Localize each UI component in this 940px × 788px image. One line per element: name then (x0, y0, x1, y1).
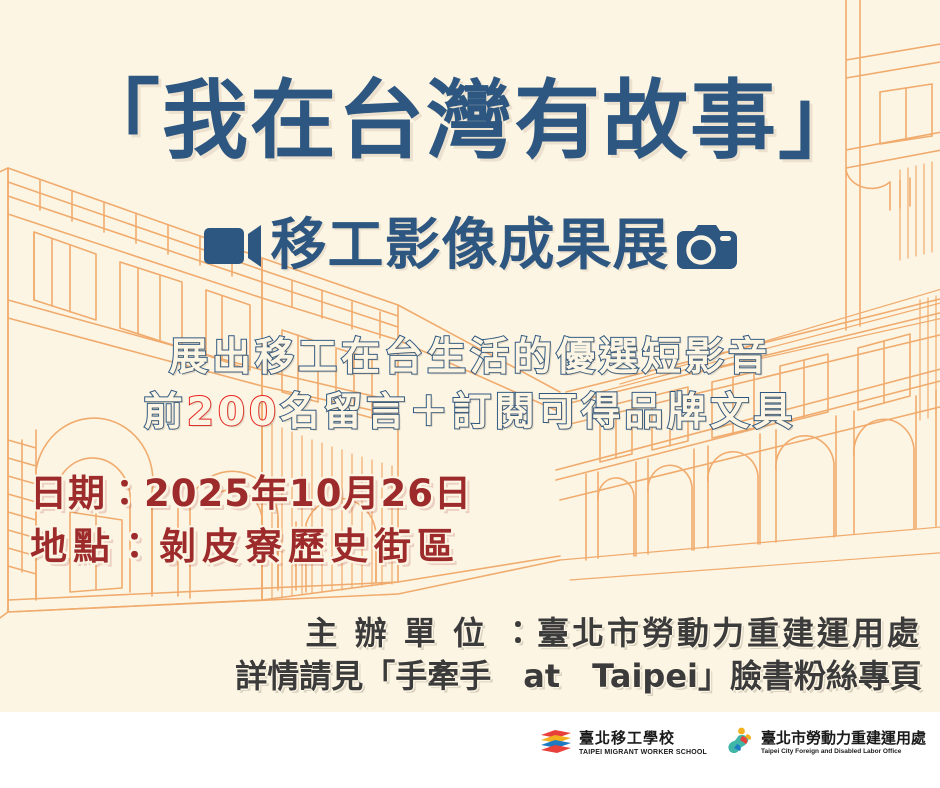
poster-subtitle: 移工影像成果展 (271, 218, 670, 274)
description-line-1: 展出移工在台生活的優選短影音 (0, 330, 940, 385)
person-figure-icon (725, 726, 755, 761)
logo-name-cn: 臺北移工學校 (579, 731, 707, 746)
logo-text-group: 臺北移工學校 TAIPEI MIGRANT WORKER SCHOOL (579, 731, 707, 756)
event-place-value: 剝皮寮歷史街區 (159, 525, 460, 568)
event-date-line: 日期：2025年10月26日 (30, 468, 472, 521)
logo-name-en: Taipei City Foreign and Disabled Labor O… (761, 749, 926, 756)
logo-text-group: 臺北市勞動力重建運用處 Taipei City Foreign and Disa… (761, 731, 926, 756)
logo-taipei-migrant-worker-school: 臺北移工學校 TAIPEI MIGRANT WORKER SCHOOL (539, 728, 707, 759)
footer-logo-bar: 臺北移工學校 TAIPEI MIGRANT WORKER SCHOOL 臺北市勞… (539, 722, 926, 764)
organizer-line-2: 詳情請見「手牽手 at Taipei」臉書粉絲專頁 (235, 655, 922, 698)
organizer-line-1: 主 辦 單 位 ：臺北市勞動力重建運用處 (235, 612, 922, 655)
description-line-2-suffix: 名留言＋訂閱可得品牌文具 (280, 390, 796, 435)
poster-main-title: 「我在台灣有故事」 (0, 78, 940, 164)
event-place-line: 地點：剝皮寮歷史街區 (30, 521, 472, 574)
description-block: 展出移工在台生活的優選短影音 前200名留言＋訂閱可得品牌文具 (0, 330, 940, 441)
description-highlight-count: 200 (187, 390, 280, 435)
title-block: 「我在台灣有故事」 (0, 78, 940, 164)
description-line-2: 前200名留言＋訂閱可得品牌文具 (0, 385, 940, 440)
poster-canvas: 「我在台灣有故事」 移工影像成果展 展出移工在台生活的優選短影音 前200名留言… (0, 0, 940, 788)
photo-camera-icon (676, 220, 738, 272)
event-date-value: 2025年10月26日 (144, 472, 472, 515)
stacked-books-icon (539, 728, 573, 759)
organizer-block: 主 辦 單 位 ：臺北市勞動力重建運用處 詳情請見「手牽手 at Taipei」… (235, 612, 922, 698)
logo-name-en: TAIPEI MIGRANT WORKER SCHOOL (579, 749, 707, 756)
logo-name-cn: 臺北市勞動力重建運用處 (761, 731, 926, 746)
subtitle-row: 移工影像成果展 (0, 218, 940, 274)
logo-taipei-city-foreign-and-disabled-labor-office: 臺北市勞動力重建運用處 Taipei City Foreign and Disa… (725, 726, 926, 761)
event-place-label: 地點： (30, 525, 159, 568)
event-date-label: 日期： (30, 472, 144, 515)
event-info-block: 日期：2025年10月26日 地點：剝皮寮歷史街區 (30, 468, 472, 573)
video-camera-icon (203, 220, 265, 272)
description-line-2-prefix: 前 (144, 390, 187, 435)
